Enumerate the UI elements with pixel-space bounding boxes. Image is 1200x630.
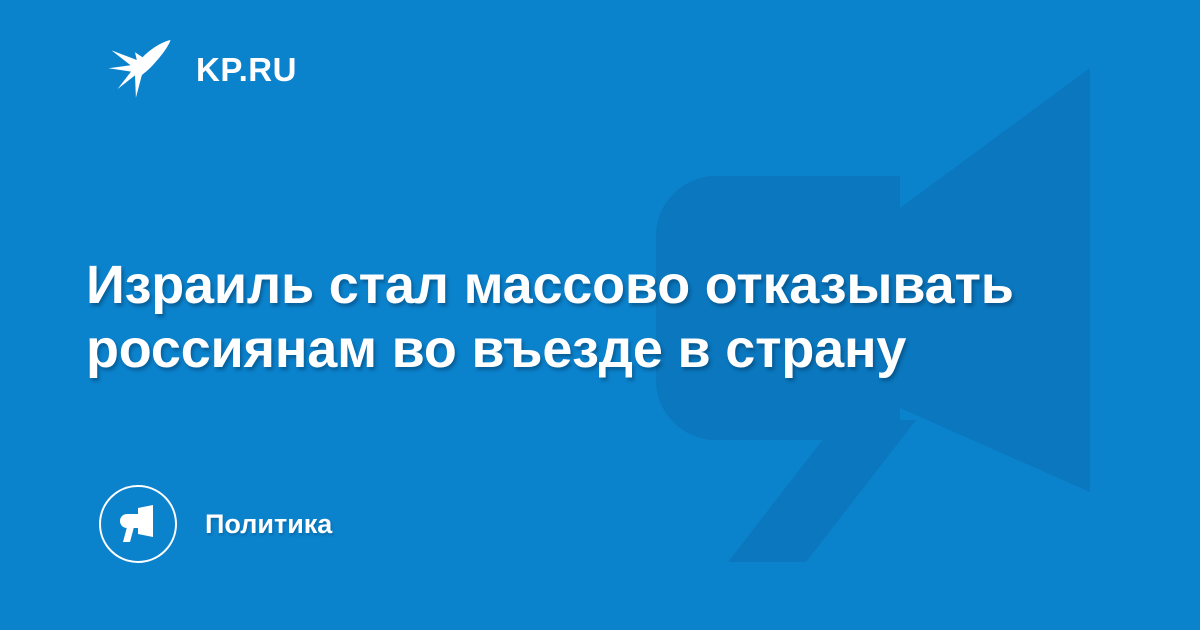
brand-logo[interactable]: KP.RU — [108, 38, 297, 100]
headline: Израиль стал массово отказывать россияна… — [86, 254, 1096, 381]
brand-name: KP.RU — [196, 53, 297, 86]
headline-line-1: Израиль стал массово отказывать — [86, 254, 1096, 318]
swallow-bird-icon — [108, 38, 174, 100]
category-icon-circle — [99, 485, 177, 563]
category-label: Политика — [205, 511, 332, 538]
category-badge[interactable]: Политика — [99, 485, 332, 563]
news-share-card: KP.RU Израиль стал массово отказывать ро… — [0, 0, 1200, 630]
headline-line-2: россиянам во въезде в страну — [86, 318, 1096, 382]
megaphone-icon — [116, 504, 160, 544]
